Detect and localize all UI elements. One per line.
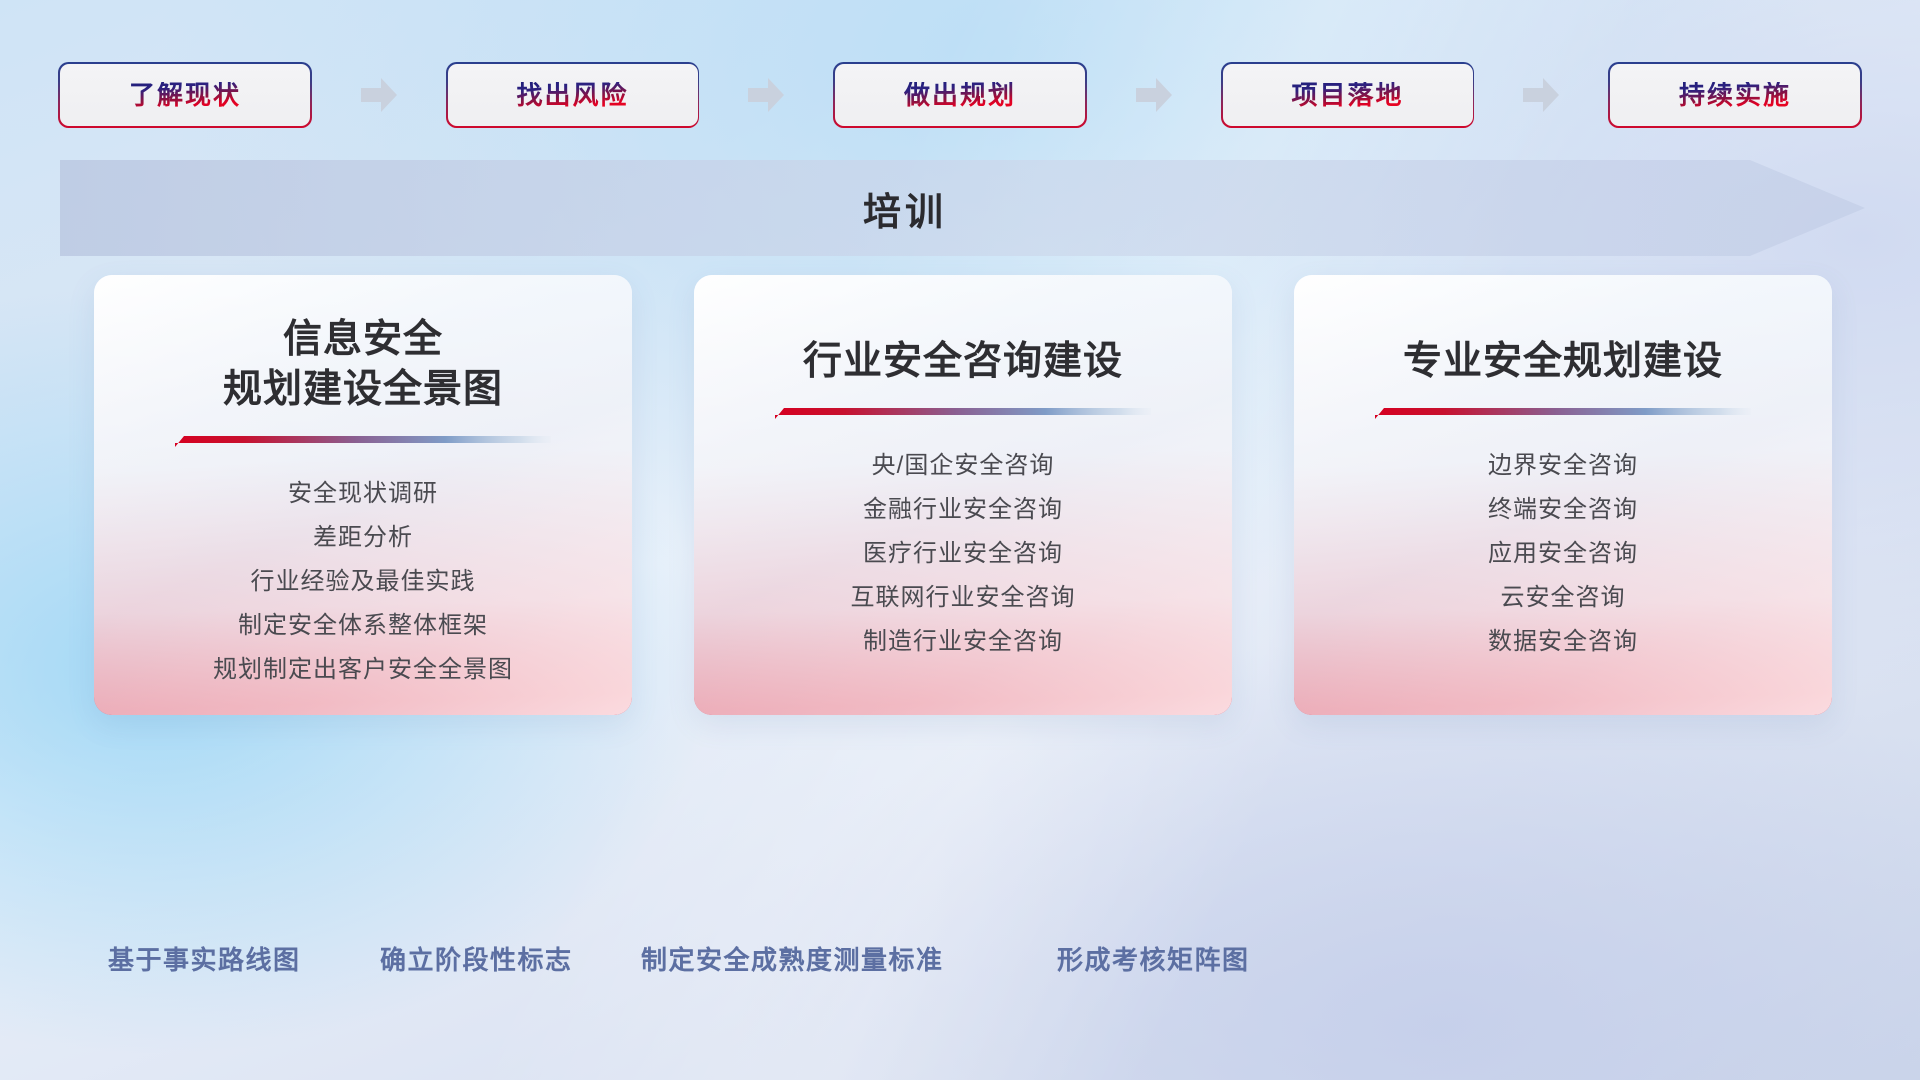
list-item: 安全现状调研	[118, 472, 608, 516]
card-3[interactable]: 专业安全规划建设	[1294, 275, 1832, 715]
footer-label-3: 制定安全成熟度测量标准	[641, 938, 944, 982]
footer-label-4: 形成考核矩阵图	[1057, 938, 1250, 982]
footer-label-row: 基于事实路线图 确立阶段性标志 制定安全成熟度测量标准 形成考核矩阵图	[0, 938, 1920, 982]
footer-label-1: 基于事实路线图	[108, 938, 301, 982]
step-label-2: 找出风险	[516, 82, 628, 108]
banner-title: 培训	[60, 160, 1750, 256]
list-item: 央/国企安全咨询	[718, 444, 1208, 488]
arrow-right-icon-4	[1523, 78, 1559, 112]
list-item: 金融行业安全咨询	[718, 488, 1208, 532]
slide-canvas: 了解现状 找出风险 做出规划 项目落地	[0, 0, 1920, 1080]
card-1-title: 信息安全 规划建设全景图	[223, 315, 503, 415]
arrow-right-icon-2	[748, 78, 784, 112]
step-label-5: 持续实施	[1679, 82, 1791, 108]
list-item: 边界安全咨询	[1318, 444, 1808, 488]
card-3-title: 专业安全规划建设	[1403, 337, 1723, 387]
list-item: 医疗行业安全咨询	[718, 532, 1208, 576]
list-item: 应用安全咨询	[1318, 532, 1808, 576]
card-2-list: 央/国企安全咨询 金融行业安全咨询 医疗行业安全咨询 互联网行业安全咨询 制造行…	[718, 444, 1208, 664]
process-step-row: 了解现状 找出风险 做出规划 项目落地	[60, 62, 1860, 128]
step-box-4[interactable]: 项目落地	[1223, 64, 1473, 126]
card-3-divider	[1375, 407, 1751, 420]
step-box-1[interactable]: 了解现状	[60, 64, 310, 126]
list-item: 制定安全体系整体框架	[118, 604, 608, 648]
list-item: 行业经验及最佳实践	[118, 560, 608, 604]
card-1-list: 安全现状调研 差距分析 行业经验及最佳实践 制定安全体系整体框架 规划制定出客户…	[118, 472, 608, 692]
list-item: 规划制定出客户安全全景图	[118, 648, 608, 692]
step-box-3[interactable]: 做出规划	[835, 64, 1085, 126]
step-box-2[interactable]: 找出风险	[448, 64, 698, 126]
step-box-5[interactable]: 持续实施	[1610, 64, 1860, 126]
list-item: 互联网行业安全咨询	[718, 576, 1208, 620]
training-banner: 培训	[60, 160, 1865, 256]
arrow-right-icon-1	[361, 78, 397, 112]
arrow-right-icon-3	[1136, 78, 1172, 112]
list-item: 云安全咨询	[1318, 576, 1808, 620]
step-label-4: 项目落地	[1291, 82, 1403, 108]
card-row: 信息安全 规划建设全景图	[94, 275, 1832, 715]
card-2-title: 行业安全咨询建设	[803, 337, 1123, 387]
list-item: 差距分析	[118, 516, 608, 560]
card-2[interactable]: 行业安全咨询建设	[694, 275, 1232, 715]
card-3-list: 边界安全咨询 终端安全咨询 应用安全咨询 云安全咨询 数据安全咨询	[1318, 444, 1808, 664]
step-label-1: 了解现状	[129, 82, 241, 108]
footer-label-2: 确立阶段性标志	[380, 938, 573, 982]
list-item: 制造行业安全咨询	[718, 620, 1208, 664]
step-label-3: 做出规划	[904, 82, 1016, 108]
card-1-divider	[175, 435, 551, 448]
list-item: 数据安全咨询	[1318, 620, 1808, 664]
card-2-divider	[775, 407, 1151, 420]
card-1[interactable]: 信息安全 规划建设全景图	[94, 275, 632, 715]
list-item: 终端安全咨询	[1318, 488, 1808, 532]
